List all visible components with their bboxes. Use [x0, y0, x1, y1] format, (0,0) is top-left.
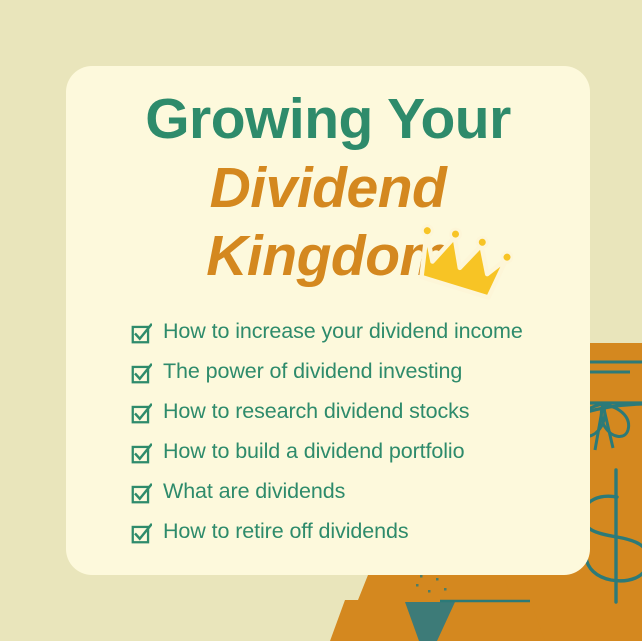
- list-item[interactable]: What are dividends: [131, 472, 601, 512]
- list-item[interactable]: How to increase your dividend income: [131, 312, 601, 352]
- checkbox-checked-icon[interactable]: [131, 323, 152, 344]
- checkbox-checked-icon[interactable]: [131, 363, 152, 384]
- list-item-label: What are dividends: [163, 481, 345, 503]
- title-line-kingdom: Kingdom: [66, 217, 590, 286]
- title-line-dividend: Dividend: [66, 149, 590, 218]
- list-item-label: How to research dividend stocks: [163, 401, 469, 423]
- poster-canvas: Growing Your Dividend Kingdom How to inc…: [0, 0, 642, 641]
- checkbox-checked-icon[interactable]: [131, 443, 152, 464]
- list-item[interactable]: How to research dividend stocks: [131, 392, 601, 432]
- list-item[interactable]: The power of dividend investing: [131, 352, 601, 392]
- list-item-label: The power of dividend investing: [163, 361, 462, 383]
- list-item-label: How to increase your dividend income: [163, 321, 523, 343]
- checklist: How to increase your dividend income The…: [131, 312, 601, 552]
- title-line-growing-your: Growing Your: [66, 86, 590, 149]
- list-item-label: How to retire off dividends: [163, 521, 408, 543]
- list-item-label: How to build a dividend portfolio: [163, 441, 464, 463]
- checkbox-checked-icon[interactable]: [131, 483, 152, 504]
- list-item[interactable]: How to build a dividend portfolio: [131, 432, 601, 472]
- checkbox-checked-icon[interactable]: [131, 403, 152, 424]
- list-item[interactable]: How to retire off dividends: [131, 512, 601, 552]
- gold-bars-icon: [330, 565, 545, 641]
- checkbox-checked-icon[interactable]: [131, 523, 152, 544]
- page-title: Growing Your Dividend Kingdom: [66, 86, 590, 286]
